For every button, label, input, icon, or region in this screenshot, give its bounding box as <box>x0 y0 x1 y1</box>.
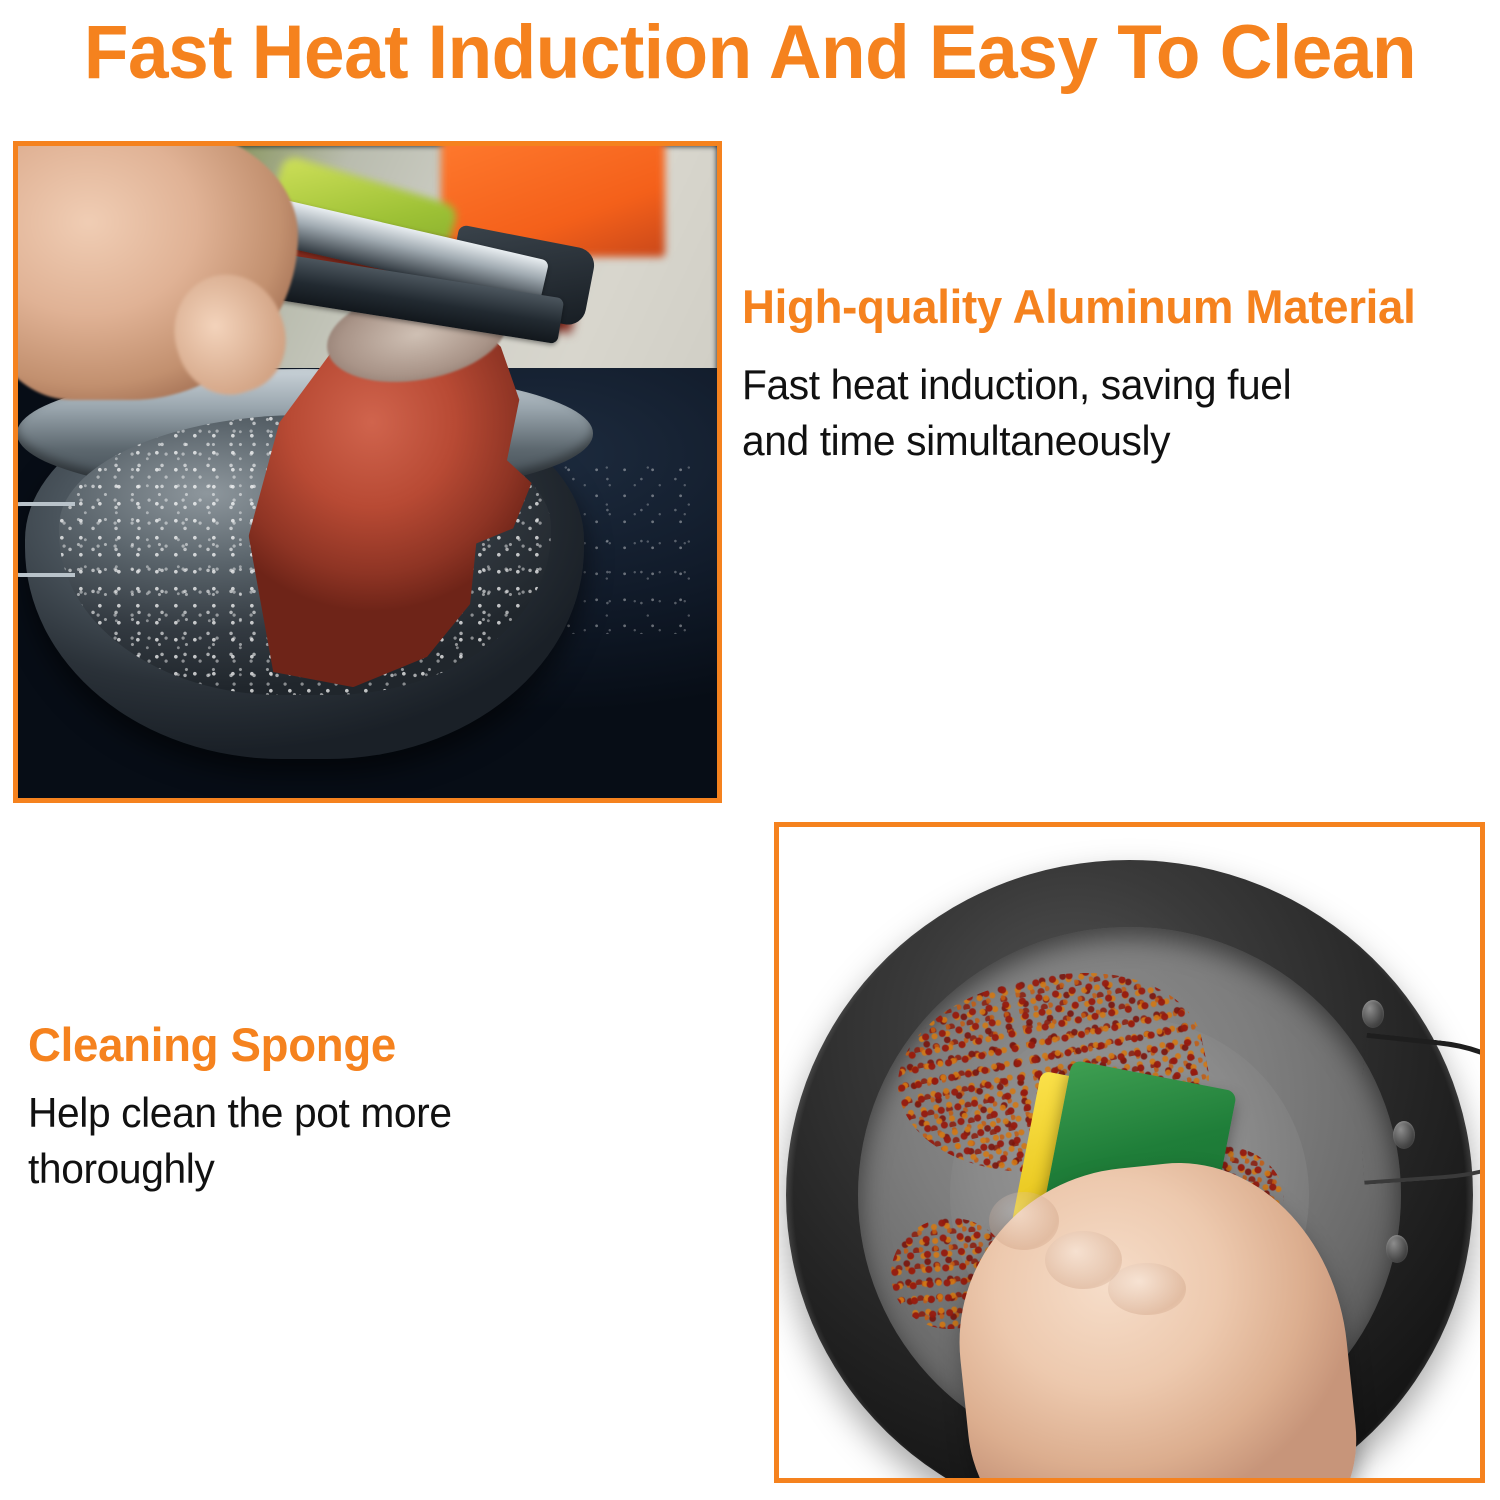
feature-image-aluminum <box>13 141 722 803</box>
feature-image-sponge <box>774 822 1485 1483</box>
feature-body-sponge-line1: Help clean the pot more <box>28 1085 668 1141</box>
pan-cleaning-photo <box>779 827 1480 1478</box>
feature-text-sponge: Cleaning Sponge Help clean the pot more … <box>28 1016 688 1197</box>
knuckle-highlight <box>989 1192 1059 1251</box>
pan-rivet <box>1362 1000 1384 1028</box>
knuckle-highlight <box>1108 1263 1185 1315</box>
feature-text-aluminum: High-quality Aluminum Material Fast heat… <box>742 278 1482 469</box>
feature-body-aluminum: Fast heat induction, saving fuel and tim… <box>742 357 1460 469</box>
pan-rivet <box>1386 1235 1408 1263</box>
feature-heading-aluminum: High-quality Aluminum Material <box>742 278 1460 335</box>
infographic-page: Fast Heat Induction And Easy To Clean <box>0 0 1500 1500</box>
feature-body-aluminum-line1: Fast heat induction, saving fuel <box>742 357 1460 413</box>
feature-body-aluminum-line2: and time simultaneously <box>742 413 1460 469</box>
hand-holding-tongs <box>18 146 298 400</box>
steak-in-pan-photo <box>18 146 717 798</box>
feature-heading-sponge: Cleaning Sponge <box>28 1016 668 1073</box>
pan-wire-handle-lower <box>1358 1081 1480 1186</box>
pan-wire-handle <box>18 502 75 578</box>
page-title: Fast Heat Induction And Easy To Clean <box>30 10 1470 96</box>
feature-body-sponge-line2: thoroughly <box>28 1141 668 1197</box>
feature-body-sponge: Help clean the pot more thoroughly <box>28 1085 668 1197</box>
